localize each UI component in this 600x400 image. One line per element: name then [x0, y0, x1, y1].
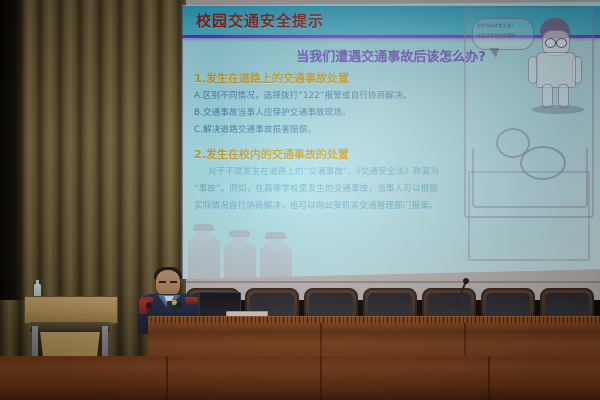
speech-bubble-line1: 保护现场才是王道！	[477, 23, 530, 30]
slide-section1-line-c: C.解决道路交通事故损害赔偿。	[194, 123, 456, 135]
slide-section2-line-2: “事故”。例如，在高等学校里发生的交通事故，当事人可以根据	[194, 182, 456, 194]
slide-lineart-panel	[468, 171, 590, 261]
podium-top	[24, 296, 118, 324]
speaker-head	[156, 270, 180, 297]
chair	[481, 288, 535, 318]
curtain-shadow-edge	[0, 0, 26, 300]
speaker-microphone-head-2	[176, 302, 182, 308]
cartoon-ground-shadow	[532, 105, 584, 114]
speaker-brow-right	[170, 281, 177, 283]
cartoon-boy-glasses-left	[545, 38, 556, 48]
foreground-table-seam	[488, 356, 490, 400]
slide-body-text: 1.发生在道路上的交通事故处置 A.区别不同情况，选择拨打“122”报警或自行协…	[194, 70, 456, 216]
cartoon-boy-body	[536, 52, 576, 88]
speech-bubble-line2: 还要注意受伤不懂呢	[477, 33, 530, 40]
speaker-brow-left	[159, 281, 166, 283]
slide-section2-line-3: 实际情况自行协商解决，也可以向公安机关交通管理部门报案。	[194, 199, 456, 211]
speech-bubble: 保护现场才是王道！ 还要注意受伤不懂呢	[472, 18, 534, 50]
slide-section1-line-a: A.区别不同情况，选择拨打“122”报警或自行协商解决。	[194, 89, 456, 101]
microphone-head	[463, 278, 469, 284]
cartoon-boy-glasses-right	[556, 38, 567, 48]
projection-screen: 校园交通安全提示 当我们遭遇交通事故后该怎么办? 1.发生在道路上的交通事故处置…	[182, 2, 600, 279]
chair	[540, 288, 594, 318]
chair	[422, 288, 476, 318]
foreground-table	[0, 356, 600, 400]
speaker-microphone-head	[146, 302, 152, 308]
chair	[363, 288, 417, 318]
table-greek-key-trim	[148, 316, 600, 323]
slide-section1-heading: 1.发生在道路上的交通事故处置	[194, 70, 456, 86]
slide-section2-line-1: 对于不是发生在道路上的“交通事故”，《交通安全法》称其为	[194, 165, 456, 177]
auditorium-photo: 校园交通安全提示 当我们遭遇交通事故后该怎么办? 1.发生在道路上的交通事故处置…	[0, 0, 600, 400]
foreground-table-seam	[166, 356, 168, 400]
slide-police-silhouettes	[186, 221, 312, 279]
podium-neck	[30, 322, 110, 332]
foreground-table-seam	[320, 356, 322, 400]
slide-section1-line-b: B.交通事故当事人应保护交通事故现场。	[194, 106, 456, 118]
chair	[304, 288, 358, 318]
slide-title: 校园交通安全提示	[196, 10, 324, 31]
slide-section2-heading: 2.发生在校内的交通事故的处置	[194, 146, 456, 162]
